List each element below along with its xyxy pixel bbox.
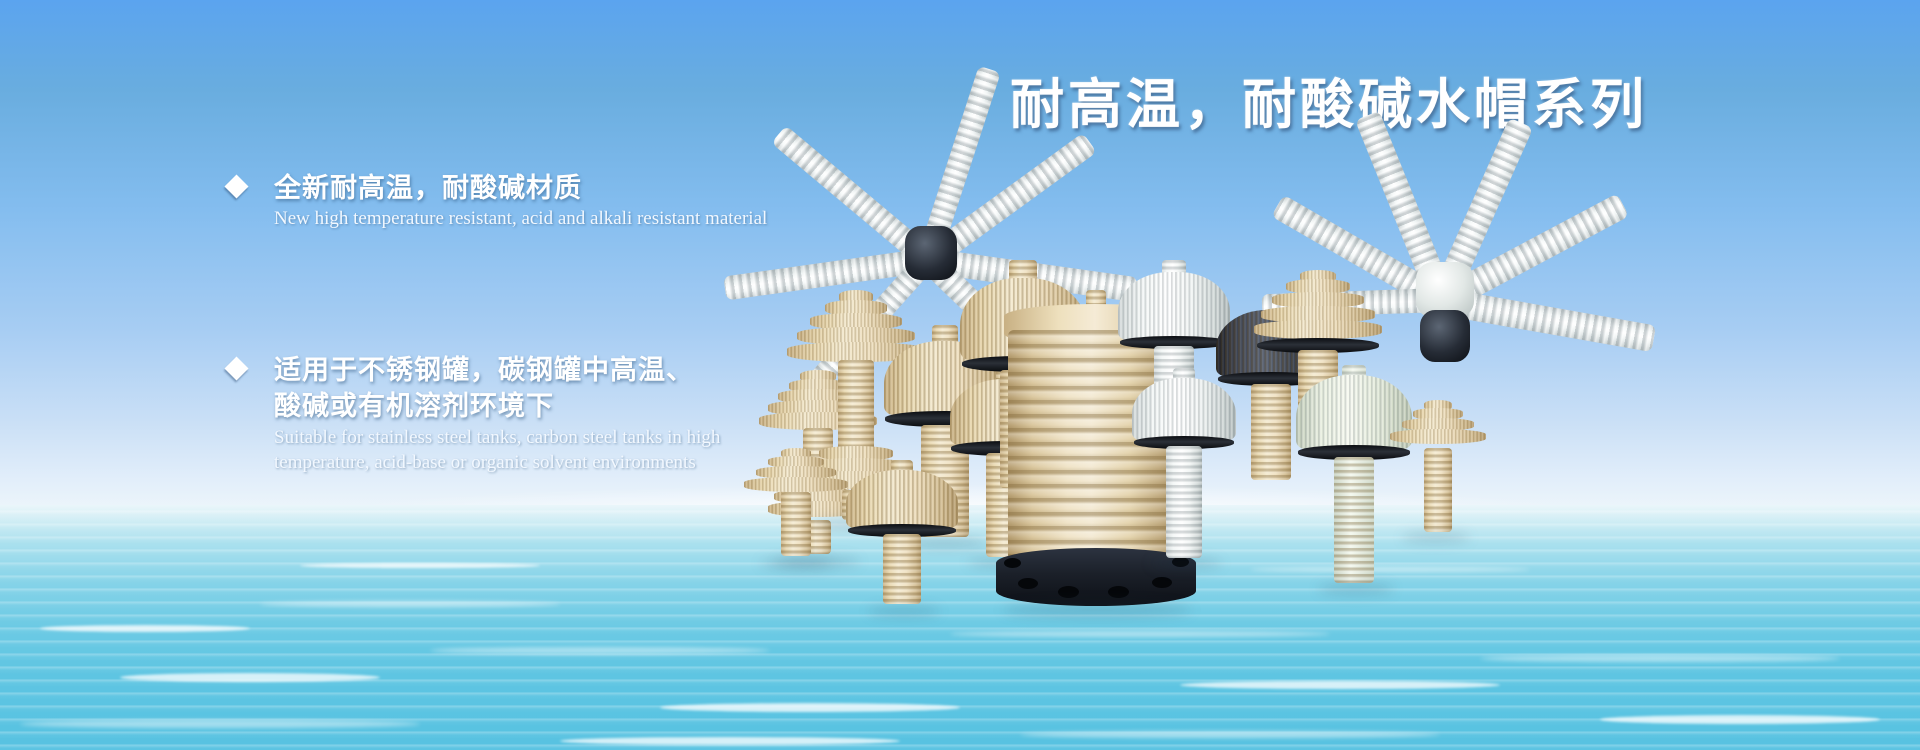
nozzle-dome-4 xyxy=(846,460,958,630)
product-banner: 耐高温，耐酸碱水帽系列 全新耐高温，耐酸碱材质 New high tempera… xyxy=(0,0,1920,750)
diamond-bullet-icon xyxy=(224,356,248,380)
page-title: 耐高温，耐酸碱水帽系列 xyxy=(1010,60,1648,139)
product-cluster xyxy=(700,130,1910,660)
diamond-bullet-icon xyxy=(224,174,248,198)
nozzle-pagoda-5 xyxy=(744,448,848,598)
nozzle-pagoda-4 xyxy=(1390,400,1486,580)
